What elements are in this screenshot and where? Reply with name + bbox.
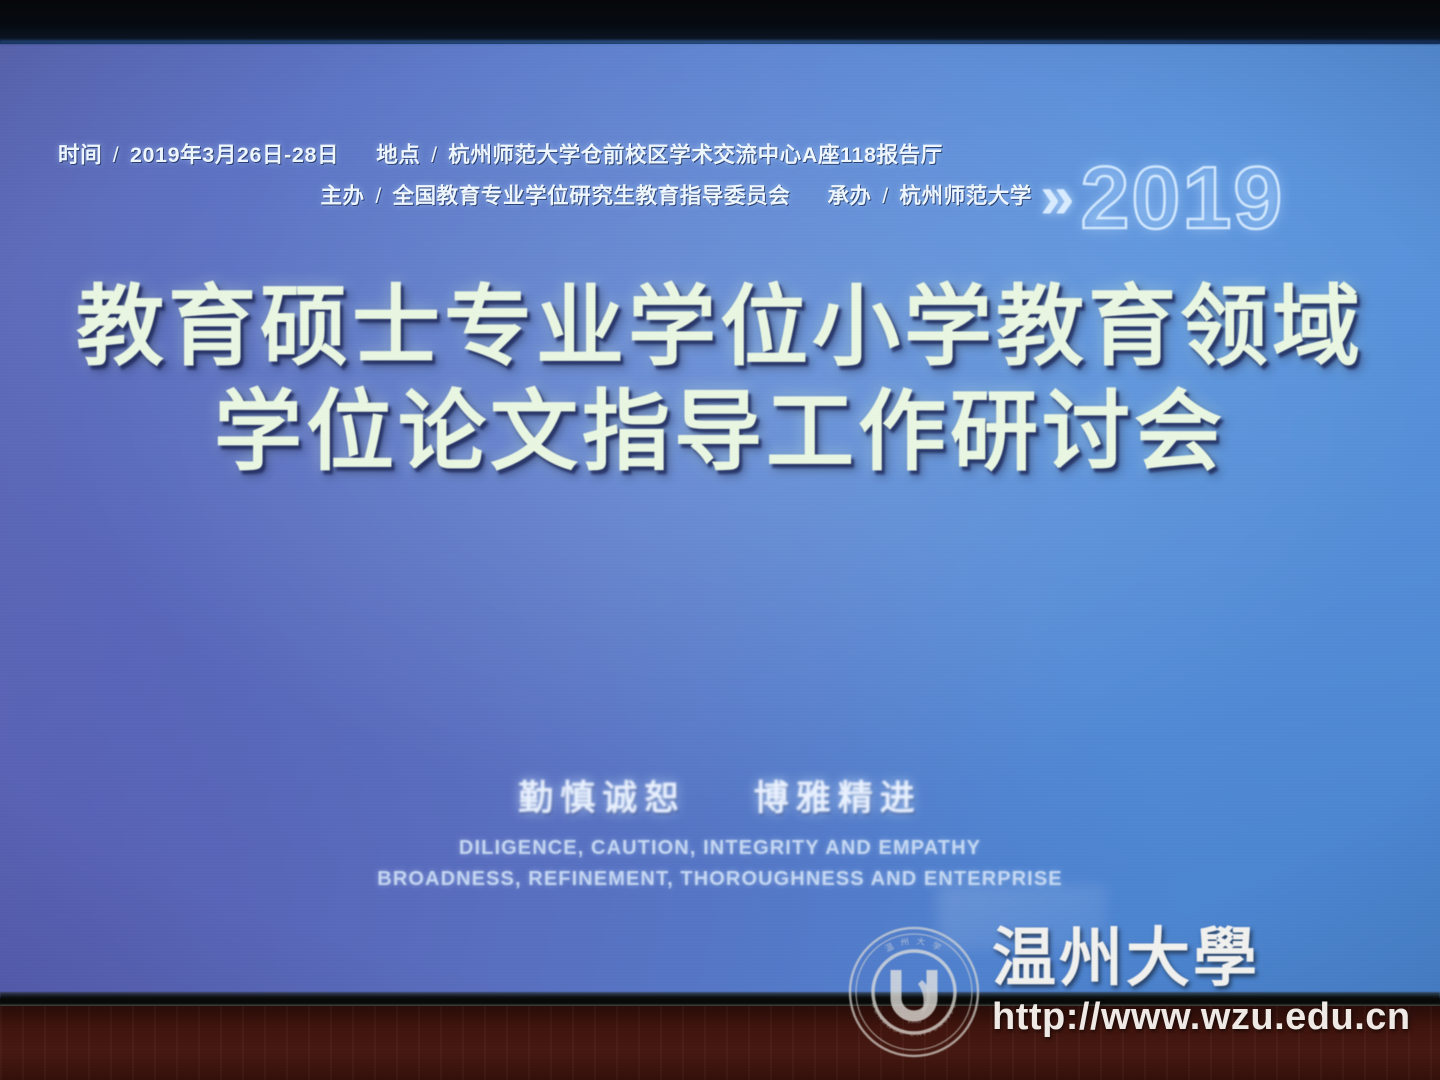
- meta-host-label: 承办: [827, 184, 871, 208]
- meta-host-value: 杭州师范大学: [899, 184, 1032, 208]
- motto-chinese: 勤慎诚恕 博雅精进: [0, 780, 1440, 819]
- double-chevron-right-icon: »: [1040, 167, 1072, 229]
- motto-block: 勤慎诚恕 博雅精进 DILIGENCE, CAUTION, INTEGRITY …: [0, 780, 1440, 895]
- ceiling-dark-band: [0, 0, 1440, 44]
- slide-title-line-2: 学位论文指导工作研讨会: [0, 385, 1440, 478]
- motto-english-line-2: BROADNESS, REFINEMENT, THOROUGHNESS AND …: [0, 864, 1440, 895]
- meta-line-organizers: 主办 / 全国教育专业学位研究生教育指导委员会 承办 / 杭州师范大学: [58, 186, 1038, 208]
- slide-title-block: 教育硕士专业学位小学教育领域 学位论文指导工作研讨会: [0, 280, 1440, 479]
- meta-line-time-venue: 时间 / 2019年3月26日-28日 地点 / 杭州师范大学仓前校区学术交流中…: [58, 145, 1038, 167]
- watermark-url: http://www.wzu.edu.cn: [992, 998, 1411, 1036]
- slide-title-line-1: 教育硕士专业学位小学教育领域: [0, 280, 1440, 373]
- motto-english-line-1: DILIGENCE, CAUTION, INTEGRITY AND EMPATH…: [0, 833, 1440, 864]
- wenzhou-university-watermark: 温 州 大 学 WENZHOU UNIVERSITY 1933 温州大學 htt…: [846, 922, 1436, 1074]
- slide-meta-block: 时间 / 2019年3月26日-28日 地点 / 杭州师范大学仓前校区学术交流中…: [58, 145, 1038, 207]
- conference-slide-photo: 时间 / 2019年3月26日-28日 地点 / 杭州师范大学仓前校区学术交流中…: [0, 0, 1440, 1080]
- year-mark: » 2019: [1040, 156, 1284, 240]
- motto-english: DILIGENCE, CAUTION, INTEGRITY AND EMPATH…: [0, 833, 1440, 895]
- year-number: 2019: [1080, 156, 1284, 240]
- motto-chinese-part-1: 勤慎诚恕: [518, 779, 686, 818]
- watermark-text-block: 温州大學 http://www.wzu.edu.cn: [992, 922, 1411, 1036]
- svg-text:1933: 1933: [907, 1017, 922, 1025]
- motto-chinese-part-2: 博雅精进: [754, 779, 922, 818]
- watermark-university-name: 温州大學: [992, 926, 1411, 990]
- meta-organizer-label: 主办: [321, 184, 365, 208]
- university-seal-icon: 温 州 大 学 WENZHOU UNIVERSITY 1933: [846, 924, 982, 1060]
- projection-screen: 时间 / 2019年3月26日-28日 地点 / 杭州师范大学仓前校区学术交流中…: [0, 40, 1440, 998]
- meta-organizer-value: 全国教育专业学位研究生教育指导委员会: [392, 184, 790, 208]
- meta-venue-value: 杭州师范大学仓前校区学术交流中心A座118报告厅: [448, 143, 943, 167]
- meta-separator-4: /: [878, 184, 893, 208]
- meta-time-value: 2019年3月26日-28日: [130, 143, 339, 167]
- meta-separator-2: /: [427, 143, 442, 167]
- meta-separator-1: /: [109, 143, 124, 167]
- meta-separator-3: /: [371, 184, 386, 208]
- meta-time-label: 时间: [58, 143, 102, 167]
- meta-venue-label: 地点: [376, 143, 420, 167]
